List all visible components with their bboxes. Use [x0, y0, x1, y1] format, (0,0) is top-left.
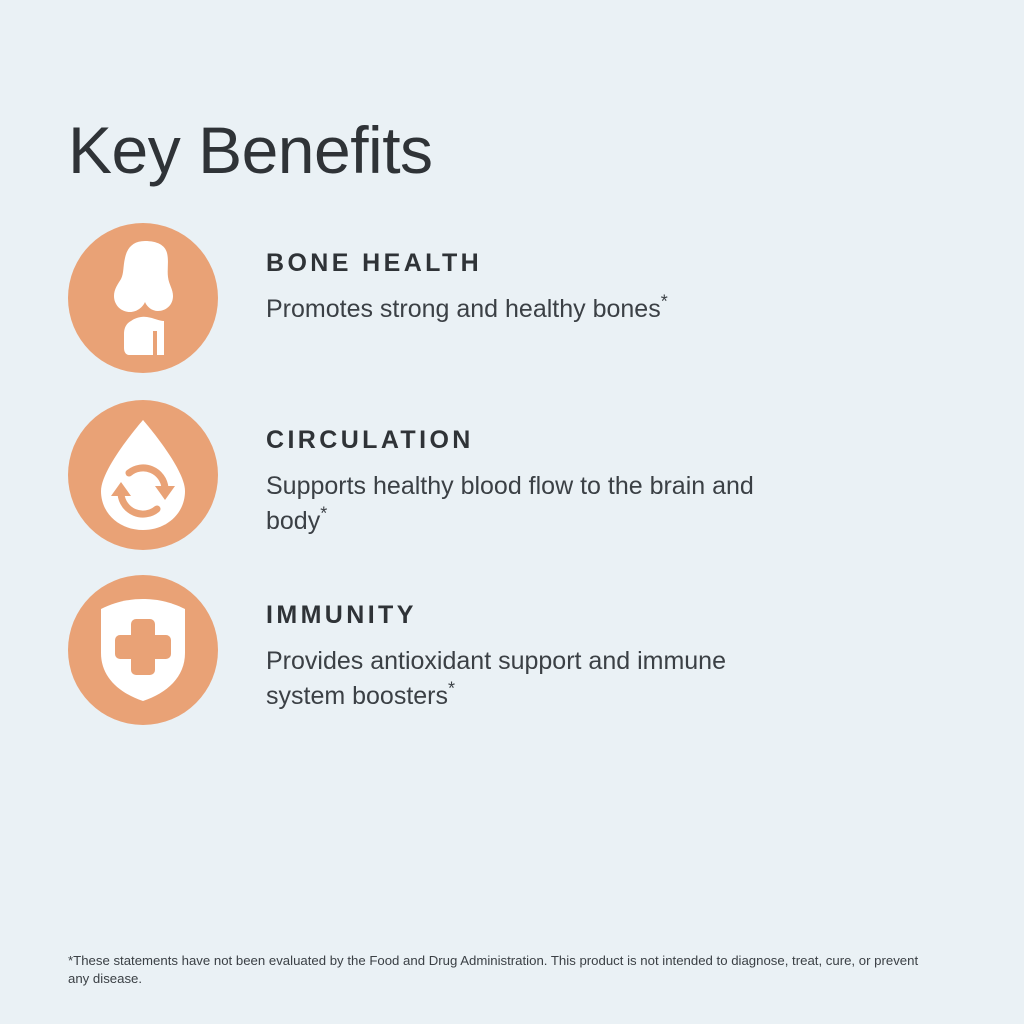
footnote-marker: * — [661, 292, 668, 312]
shield-plus-icon — [68, 575, 218, 725]
benefit-description: Supports healthy blood flow to the brain… — [266, 469, 786, 539]
benefit-description-text: Provides antioxidant support and immune … — [266, 647, 726, 710]
benefit-text-immunity: IMMUNITY Provides antioxidant support an… — [218, 575, 968, 714]
key-benefits-panel: Key Benefits BONE HEALTH Promotes strong… — [0, 0, 1024, 1024]
benefit-text-circulation: CIRCULATION Supports healthy blood flow … — [218, 400, 968, 539]
benefit-title: CIRCULATION — [266, 425, 968, 455]
footnote-marker: * — [320, 504, 327, 524]
blood-drop-circulation-icon — [68, 400, 218, 550]
benefits-list: BONE HEALTH Promotes strong and healthy … — [68, 223, 968, 725]
benefit-description: Promotes strong and healthy bones* — [266, 292, 786, 327]
benefit-title: BONE HEALTH — [266, 248, 968, 278]
benefit-description-text: Supports healthy blood flow to the brain… — [266, 472, 754, 535]
footnote-marker: * — [448, 679, 455, 699]
benefit-item-immunity: IMMUNITY Provides antioxidant support an… — [68, 575, 968, 725]
benefit-description: Provides antioxidant support and immune … — [266, 644, 786, 714]
page-title: Key Benefits — [68, 112, 433, 188]
benefit-description-text: Promotes strong and healthy bones — [266, 295, 661, 323]
benefit-title: IMMUNITY — [266, 600, 968, 630]
benefit-item-bone-health: BONE HEALTH Promotes strong and healthy … — [68, 223, 968, 373]
bone-joint-icon — [68, 223, 218, 373]
benefit-text-bone-health: BONE HEALTH Promotes strong and healthy … — [218, 223, 968, 327]
fda-disclaimer: *These statements have not been evaluate… — [68, 952, 940, 988]
benefit-item-circulation: CIRCULATION Supports healthy blood flow … — [68, 400, 968, 550]
